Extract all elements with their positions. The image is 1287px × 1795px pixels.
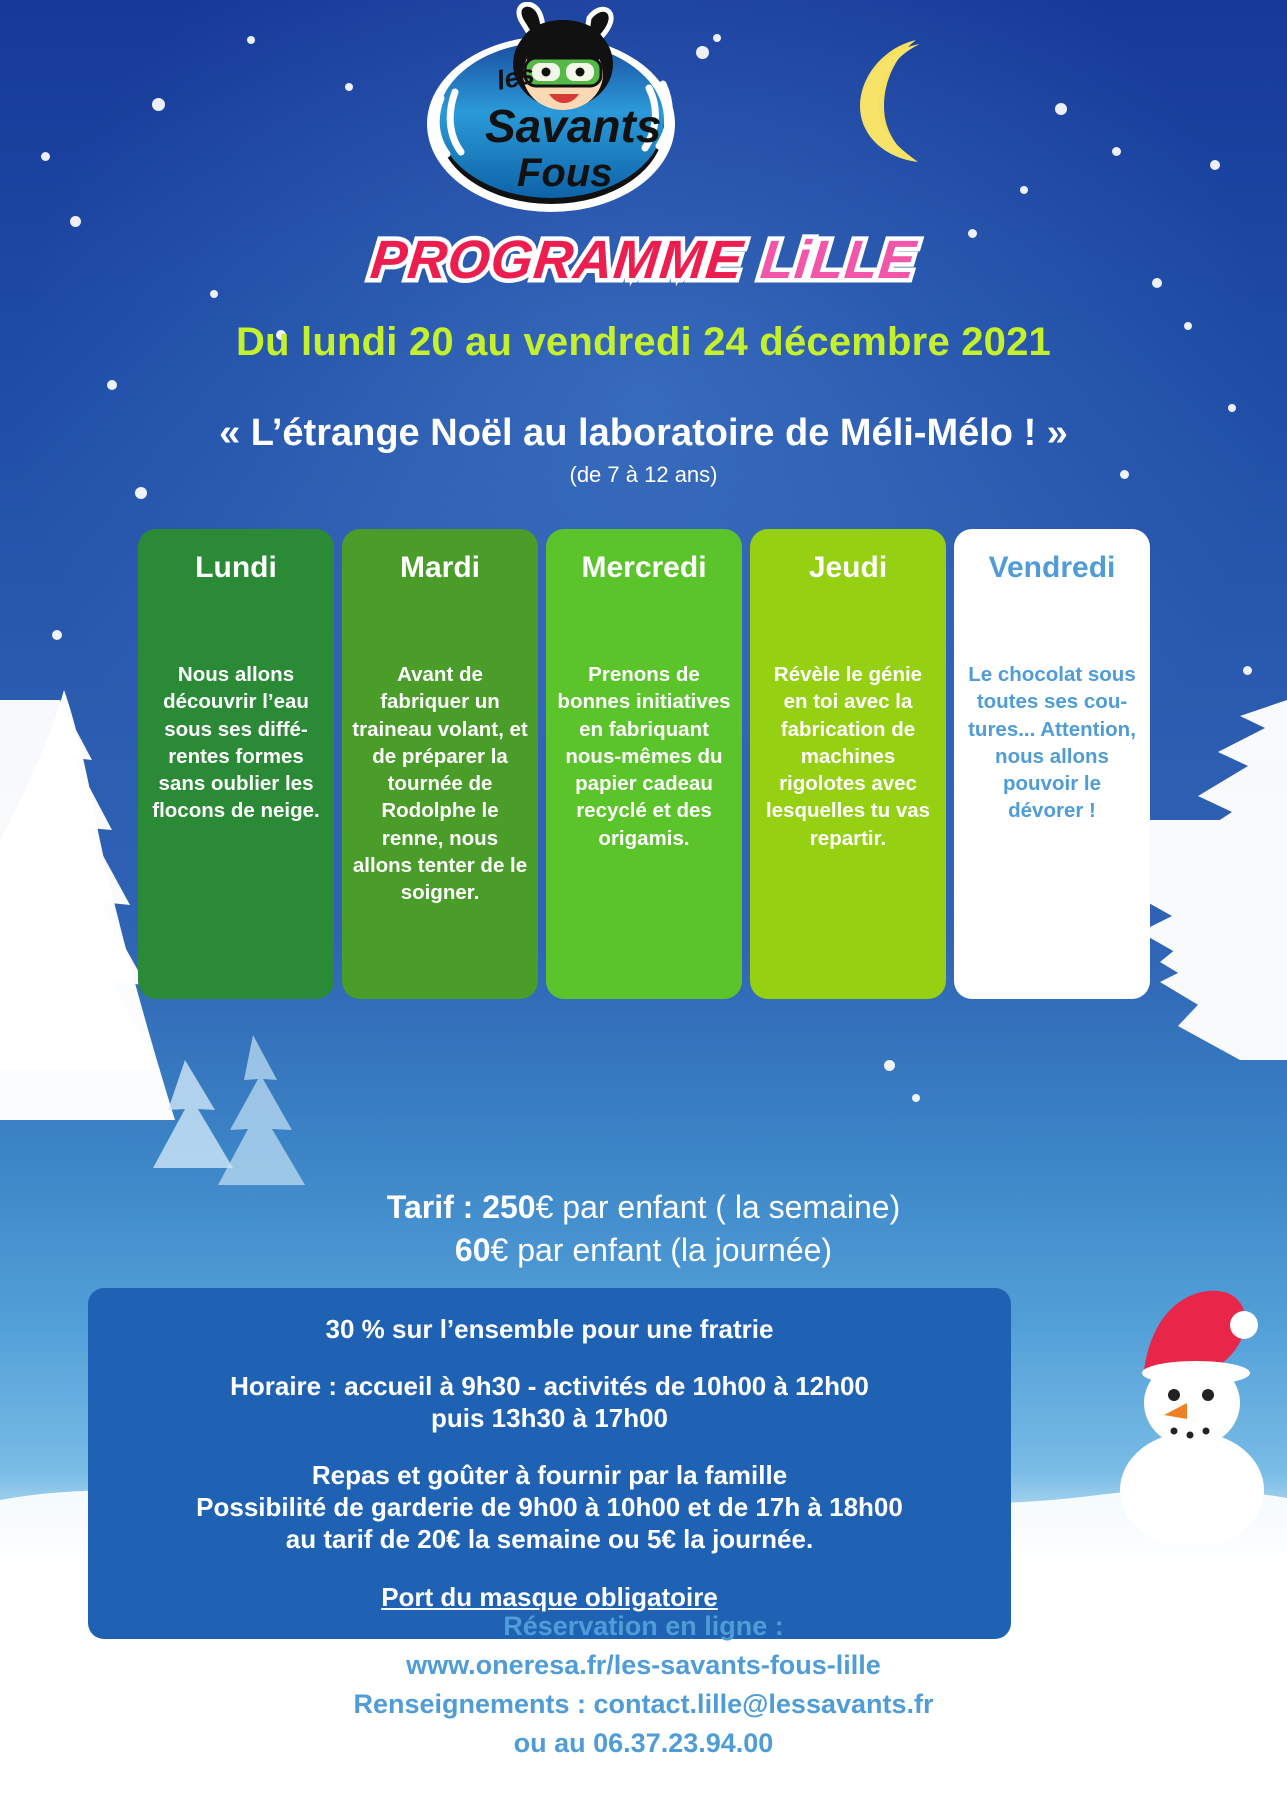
brand-logo: les Savants Fous — [425, 2, 695, 224]
age-range: (de 7 à 12 ans) — [0, 462, 1287, 488]
pricing-day-rest: € par enfant (la journée) — [491, 1232, 833, 1268]
meals-line-3: au tarif de 20€ la semaine ou 5€ la jour… — [114, 1524, 985, 1556]
day-title: Mardi — [400, 551, 480, 585]
day-card-mercredi[interactable]: Mercredi Prenons de bonnes initiatives e… — [546, 529, 742, 999]
pricing-week-amount: 250 — [482, 1189, 535, 1225]
day-description: Avant de fabriquer un traineau volant, e… — [352, 661, 528, 906]
date-range: Du lundi 20 au vendredi 24 décembre 2021 — [0, 320, 1287, 365]
day-title: Mercredi — [581, 551, 706, 585]
day-title: Lundi — [195, 551, 277, 585]
sibling-discount: 30 % sur l’ensemble pour une fratrie — [114, 1314, 985, 1345]
theme-title: « L’étrange Noël au laboratoire de Méli-… — [0, 412, 1287, 455]
day-description: Révèle le génie en toi avec la fabricati… — [760, 661, 936, 852]
day-card-jeudi[interactable]: Jeudi Révèle le génie en toi avec la fab… — [750, 529, 946, 999]
contact-email[interactable]: Renseignements : contact.lille@lessavant… — [0, 1685, 1287, 1724]
meals-line-1: Repas et goûter à fournir par la famille — [114, 1460, 985, 1492]
schedule-line-2: puis 13h30 à 17h00 — [114, 1403, 985, 1435]
pricing-day-amount: 60 — [455, 1232, 491, 1268]
reservation-label: Réservation en ligne : — [0, 1607, 1287, 1646]
pricing-block: Tarif : 250€ par enfant ( la semaine) 60… — [0, 1186, 1287, 1271]
day-card-vendredi[interactable]: Vendredi Le chocolat sous toutes ses cou… — [954, 529, 1150, 999]
day-card-lundi[interactable]: Lundi Nous allons découvrir l’eau sous s… — [138, 529, 334, 999]
logo-text-savants: Savants — [485, 100, 661, 152]
meals-line-2: Possibilité de garderie de 9h00 à 10h00 … — [114, 1492, 985, 1524]
day-title: Vendredi — [989, 551, 1116, 585]
day-cards: Lundi Nous allons découvrir l’eau sous s… — [138, 529, 1150, 999]
moon-icon — [828, 38, 936, 163]
pricing-label: Tarif : — [387, 1189, 482, 1225]
phone-number[interactable]: ou au 06.37.23.94.00 — [0, 1724, 1287, 1763]
pricing-line-2: 60€ par enfant (la journée) — [0, 1229, 1287, 1272]
meals-block: Repas et goûter à fournir par la famille… — [114, 1460, 985, 1555]
day-card-mardi[interactable]: Mardi Avant de fabriquer un traineau vol… — [342, 529, 538, 999]
day-description: Le chocolat sous toutes ses cou-tures...… — [964, 661, 1140, 825]
schedule-line-1: Horaire : accueil à 9h30 - activités de … — [114, 1371, 985, 1403]
programme-title: PROGRAMMELiLLE — [0, 233, 1287, 287]
pricing-line-1: Tarif : 250€ par enfant ( la semaine) — [0, 1186, 1287, 1229]
website-link[interactable]: www.oneresa.fr/les-savants-fous-lille — [0, 1646, 1287, 1685]
day-description: Prenons de bonnes initiatives en fabriqu… — [556, 661, 732, 852]
footer-contact: Réservation en ligne : www.oneresa.fr/le… — [0, 1607, 1287, 1764]
schedule-block: Horaire : accueil à 9h30 - activités de … — [114, 1371, 985, 1434]
logo-text-fous: Fous — [517, 151, 613, 195]
snowman-icon — [1104, 1285, 1279, 1545]
info-box: 30 % sur l’ensemble pour une fratrie Hor… — [88, 1288, 1011, 1639]
poster-canvas: les Savants Fous PROGRAMMELiLLE Du lundi… — [0, 0, 1287, 1795]
programme-word: PROGRAMME — [368, 233, 746, 287]
city-word: LiLLE — [758, 233, 919, 287]
day-title: Jeudi — [809, 551, 887, 585]
day-description: Nous allons découvrir l’eau sous ses dif… — [148, 661, 324, 825]
pricing-week-rest: € par enfant ( la semaine) — [536, 1189, 901, 1225]
